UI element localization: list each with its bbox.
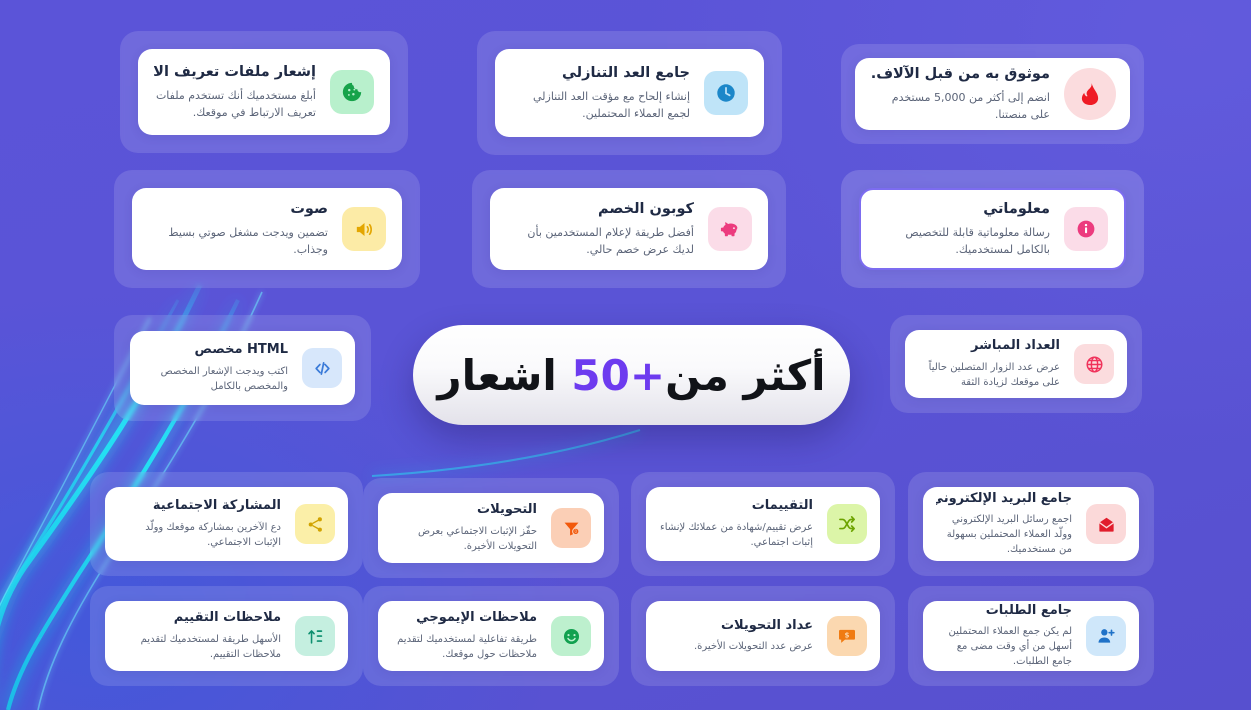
card-inner: ملاحظات التقييم الأسهل طريقة لمستخدميك ل… (105, 601, 348, 671)
shuffle-icon (827, 504, 867, 544)
card-title: عداد التحويلات (659, 618, 813, 634)
card-text: جامع الطلبات لم يكن جمع العملاء المحتملي… (936, 603, 1072, 669)
card-text: المشاركة الاجتماعية دع الآخرين بمشاركة م… (118, 498, 281, 549)
feature-card-trusted-by-thousands[interactable]: موثوق به من قبل الآلاف. انضم إلى أكثر من… (841, 44, 1144, 144)
svg-text:$: $ (845, 630, 850, 639)
hero-count: 50 (571, 351, 629, 400)
card-title: كوبون الخصم (506, 200, 694, 218)
feature-card-emoji-feedback[interactable]: ملاحظات الإيموجي طريقة تفاعلية لمستخدميك… (363, 586, 619, 686)
card-description: حفّز الإثبات الاجتماعي بعرض التحويلات ال… (391, 524, 537, 554)
card-description: أفضل طريقة لإعلام المستخدمين بأن لديك عر… (506, 224, 694, 258)
feature-grid: إشعار ملفات تعريف الارتباط أبلغ مستخدميك… (0, 0, 1251, 710)
card-description: أبلغ مستخدميك أنك تستخدم ملفات تعريف الا… (154, 87, 316, 121)
card-inner: معلوماتي رسالة معلوماتية قابلة للتخصيص ب… (859, 188, 1126, 270)
card-description: إنشاء إلحاح مع مؤقت العد التنازلي لجمع ا… (511, 88, 690, 122)
card-text: العداد المباشر عرض عدد الزوار المتصلين ح… (918, 338, 1060, 389)
card-inner: موثوق به من قبل الآلاف. انضم إلى أكثر من… (855, 58, 1130, 130)
hero-suffix: اشعار (437, 351, 556, 400)
feature-card-live-counter[interactable]: العداد المباشر عرض عدد الزوار المتصلين ح… (890, 315, 1142, 413)
card-inner: إشعار ملفات تعريف الارتباط أبلغ مستخدميك… (138, 49, 390, 135)
card-text: صوت تضمين ويدجت مشغل صوتي بسيط وجذاب. (148, 200, 328, 257)
card-description: تضمين ويدجت مشغل صوتي بسيط وجذاب. (148, 224, 328, 258)
feature-card-countdown-collector[interactable]: جامع العد التنازلي إنشاء إلحاح مع مؤقت ا… (477, 31, 782, 155)
feature-card-audio[interactable]: صوت تضمين ويدجت مشغل صوتي بسيط وجذاب. (114, 170, 420, 288)
feature-card-custom-html[interactable]: HTML مخصص اكتب ويدجت الإشعار المخصص والم… (114, 315, 371, 421)
piggy-bank-icon (708, 207, 752, 251)
card-inner: $ عداد التحويلات عرض عدد التحويلات الأخي… (646, 601, 880, 671)
feature-card-social-share[interactable]: المشاركة الاجتماعية دع الآخرين بمشاركة م… (90, 472, 363, 576)
card-text: ملاحظات التقييم الأسهل طريقة لمستخدميك ل… (118, 610, 281, 661)
flame-icon (1064, 68, 1116, 120)
card-inner: كوبون الخصم أفضل طريقة لإعلام المستخدمين… (490, 188, 768, 270)
card-text: التحويلات حفّز الإثبات الاجتماعي بعرض ال… (391, 502, 537, 553)
user-plus-icon (1086, 616, 1126, 656)
card-inner: العداد المباشر عرض عدد الزوار المتصلين ح… (905, 330, 1127, 398)
card-text: معلوماتي رسالة معلوماتية قابلة للتخصيص ب… (877, 200, 1050, 257)
card-title: موثوق به من قبل الآلاف. (869, 65, 1050, 83)
card-title: HTML مخصص (143, 342, 288, 358)
hero-plus: + (630, 351, 665, 400)
feature-card-conversions[interactable]: 0 التحويلات حفّز الإثبات الاجتماعي بعرض … (363, 478, 619, 578)
card-description: انضم إلى أكثر من 5,000 مستخدم على منصتنا… (869, 89, 1050, 123)
card-inner: 0 التحويلات حفّز الإثبات الاجتماعي بعرض … (378, 493, 604, 563)
card-title: التقييمات (659, 498, 813, 514)
card-text: ملاحظات الإيموجي طريقة تفاعلية لمستخدميك… (391, 610, 537, 661)
card-title: العداد المباشر (918, 338, 1060, 354)
card-title: التحويلات (391, 502, 537, 518)
speaker-icon (342, 207, 386, 251)
card-description: عرض تقييم/شهادة من عملائك لإنشاء إثبات ا… (659, 520, 813, 550)
card-title: ملاحظات الإيموجي (391, 610, 537, 626)
feature-card-lead-collector[interactable]: جامع الطلبات لم يكن جمع العملاء المحتملي… (908, 586, 1154, 686)
funnel-icon: 0 (551, 508, 591, 548)
card-text: التقييمات عرض تقييم/شهادة من عملائك لإنش… (659, 498, 813, 549)
info-icon (1064, 207, 1108, 251)
card-description: لم يكن جمع العملاء المحتملين أسهل من أي … (936, 624, 1072, 669)
feature-card-discount-coupon[interactable]: كوبون الخصم أفضل طريقة لإعلام المستخدمين… (472, 170, 786, 288)
card-title: إشعار ملفات تعريف الارتباط (154, 63, 316, 81)
card-description: طريقة تفاعلية لمستخدميك لتقديم ملاحظات ح… (391, 632, 537, 662)
globe-icon (1074, 344, 1114, 384)
feature-card-informational[interactable]: معلوماتي رسالة معلوماتية قابلة للتخصيص ب… (841, 170, 1144, 288)
hero-prefix: أكثر من (665, 351, 826, 400)
card-inner: جامع الطلبات لم يكن جمع العملاء المحتملي… (923, 601, 1139, 671)
feature-card-cookie-notice[interactable]: إشعار ملفات تعريف الارتباط أبلغ مستخدميك… (120, 31, 408, 153)
card-description: عرض عدد التحويلات الأخيرة. (659, 639, 813, 654)
hero-badge: أكثر من+50 اشعار (413, 325, 850, 425)
card-text: موثوق به من قبل الآلاف. انضم إلى أكثر من… (869, 65, 1050, 122)
card-description: دع الآخرين بمشاركة موقعك وولّد الإثبات ا… (118, 520, 281, 550)
rating-arrows-icon (295, 616, 335, 656)
card-inner: صوت تضمين ويدجت مشغل صوتي بسيط وجذاب. (132, 188, 402, 270)
hero-text: أكثر من+50 اشعار (437, 351, 825, 400)
card-inner: التقييمات عرض تقييم/شهادة من عملائك لإنش… (646, 487, 880, 561)
share-icon (295, 504, 335, 544)
feature-card-rating-feedback[interactable]: ملاحظات التقييم الأسهل طريقة لمستخدميك ل… (90, 586, 363, 686)
card-inner: HTML مخصص اكتب ويدجت الإشعار المخصص والم… (130, 331, 355, 405)
feature-card-reviews[interactable]: التقييمات عرض تقييم/شهادة من عملائك لإنش… (631, 472, 895, 576)
feature-card-conversion-counter[interactable]: $ عداد التحويلات عرض عدد التحويلات الأخي… (631, 586, 895, 686)
card-description: الأسهل طريقة لمستخدميك لتقديم ملاحظات ال… (118, 632, 281, 662)
card-description: اجمع رسائل البريد الإلكتروني وولّد العمل… (936, 512, 1072, 557)
card-inner: جامع البريد الإلكتروني اجمع رسائل البريد… (923, 487, 1139, 561)
card-text: جامع البريد الإلكتروني اجمع رسائل البريد… (936, 491, 1072, 557)
clock-icon (704, 71, 748, 115)
card-description: اكتب ويدجت الإشعار المخصص والمخصص بالكام… (143, 364, 288, 394)
card-title: جامع البريد الإلكتروني (936, 491, 1072, 507)
smiley-icon (551, 616, 591, 656)
chat-dollar-icon: $ (827, 616, 867, 656)
card-title: معلوماتي (877, 200, 1050, 218)
card-inner: جامع العد التنازلي إنشاء إلحاح مع مؤقت ا… (495, 49, 764, 137)
card-inner: المشاركة الاجتماعية دع الآخرين بمشاركة م… (105, 487, 348, 561)
envelope-icon (1086, 504, 1126, 544)
card-title: جامع الطلبات (936, 603, 1072, 619)
card-inner: ملاحظات الإيموجي طريقة تفاعلية لمستخدميك… (378, 601, 604, 671)
card-text: إشعار ملفات تعريف الارتباط أبلغ مستخدميك… (154, 63, 316, 120)
card-title: ملاحظات التقييم (118, 610, 281, 626)
code-icon (302, 348, 342, 388)
card-title: المشاركة الاجتماعية (118, 498, 281, 514)
card-title: جامع العد التنازلي (511, 64, 690, 82)
card-text: جامع العد التنازلي إنشاء إلحاح مع مؤقت ا… (511, 64, 690, 121)
card-title: صوت (148, 200, 328, 218)
card-description: عرض عدد الزوار المتصلين حالياً على موقعك… (918, 360, 1060, 390)
card-text: كوبون الخصم أفضل طريقة لإعلام المستخدمين… (506, 200, 694, 257)
card-text: HTML مخصص اكتب ويدجت الإشعار المخصص والم… (143, 342, 288, 393)
card-text: عداد التحويلات عرض عدد التحويلات الأخيرة… (659, 618, 813, 654)
card-description: رسالة معلوماتية قابلة للتخصيص بالكامل لم… (877, 224, 1050, 258)
cookie-icon (330, 70, 374, 114)
feature-card-email-collector[interactable]: جامع البريد الإلكتروني اجمع رسائل البريد… (908, 472, 1154, 576)
